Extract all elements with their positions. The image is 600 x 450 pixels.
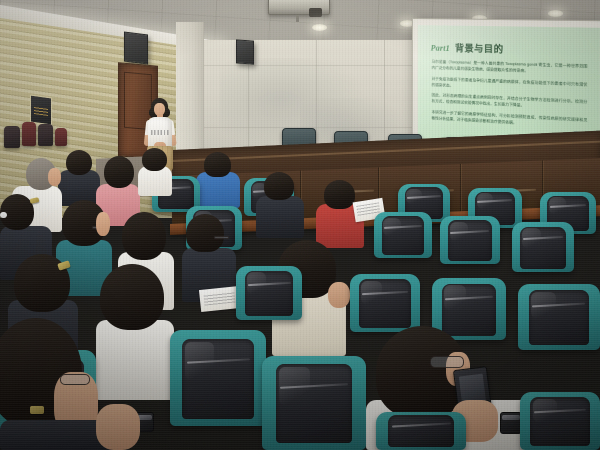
hair-clip-icon <box>30 406 44 414</box>
person-torso <box>256 196 304 238</box>
slide-title: Part1 背景与目的 <box>431 40 504 55</box>
auditorium-seat[interactable] <box>236 266 302 320</box>
backpack <box>55 128 67 146</box>
person-face <box>48 168 61 186</box>
wall-speaker-icon <box>124 32 148 65</box>
auditorium-seat[interactable] <box>440 216 500 264</box>
auditorium-seat[interactable] <box>170 330 266 426</box>
slide-heading: 背景与目的 <box>455 41 504 56</box>
person-head <box>186 214 224 252</box>
panel-seam <box>460 164 461 218</box>
downlight-icon <box>312 24 327 31</box>
person-torso <box>196 172 240 208</box>
slide-paragraph: 马尔尼菌（Toxoplasma）是一种人兽共患的 Toxoplasma gond… <box>432 59 588 77</box>
seat-highlight <box>531 292 556 318</box>
person-head <box>264 172 294 200</box>
seat-highlight <box>247 272 267 294</box>
shirt-print <box>151 130 169 135</box>
auditorium-seat[interactable] <box>518 284 600 350</box>
eyeglasses-icon <box>60 374 90 385</box>
projector-mount <box>296 15 299 22</box>
backpack <box>22 122 36 146</box>
seat-highlight <box>533 399 557 422</box>
person-head <box>142 148 167 171</box>
auditorium-seat[interactable] <box>376 412 466 450</box>
person-face <box>96 212 110 236</box>
person-hand <box>96 404 140 450</box>
seat-highlight <box>361 281 382 304</box>
eyeglasses-icon <box>430 356 464 368</box>
person-head <box>66 150 92 175</box>
seat-highlight <box>444 285 466 310</box>
person-head <box>204 152 231 177</box>
wristwatch-icon <box>500 412 522 434</box>
seat-highlight <box>450 222 468 241</box>
seat-highlight <box>279 367 310 405</box>
person-head <box>104 156 134 188</box>
auditorium-seat[interactable] <box>262 356 366 450</box>
seat-highlight <box>549 197 566 214</box>
person-torso <box>96 320 174 400</box>
auditorium-seat[interactable] <box>374 212 432 258</box>
backpack <box>4 126 20 148</box>
seat-highlight <box>185 342 214 380</box>
slide-body: 马尔尼菌（Toxoplasma）是一种人兽共患的 Toxoplasma gond… <box>432 59 588 135</box>
lecture-hall-photo: Part1 背景与目的 马尔尼菌（Toxoplasma）是一种人兽共患的 Tox… <box>0 0 600 450</box>
ceiling-projector-icon <box>268 0 330 15</box>
auditorium-seat[interactable] <box>512 222 574 272</box>
seat-highlight <box>383 218 400 236</box>
seat-highlight <box>477 193 493 209</box>
person-hand <box>328 282 350 308</box>
downlight-icon <box>548 10 563 17</box>
person-head <box>100 264 164 330</box>
seat-highlight <box>406 189 422 204</box>
backpack <box>38 124 53 146</box>
eyeglasses-icon <box>214 236 229 239</box>
auditorium-seat[interactable] <box>520 392 600 450</box>
handout-paper[interactable] <box>199 286 241 312</box>
person-head <box>324 180 355 209</box>
person-head <box>122 212 166 260</box>
auditorium-seat[interactable] <box>350 274 420 332</box>
slide-part-label: Part1 <box>431 43 450 53</box>
wall-notice-board <box>30 94 52 125</box>
wall-speaker-icon <box>236 39 254 64</box>
seat-highlight <box>522 228 541 248</box>
seat-cushion <box>388 415 455 447</box>
slide-paragraph: 本研究进一步了解它的病原学特征结构，可分析检测预防造成，传染性病原的研究规律和灵… <box>432 109 588 130</box>
slide-paragraph: 对于免疫功能低下的患者及孕妇儿童遇严重的病原体，在免疫功能低下的患者中可只有潜伏… <box>432 75 588 94</box>
face-mask-icon <box>0 212 7 218</box>
